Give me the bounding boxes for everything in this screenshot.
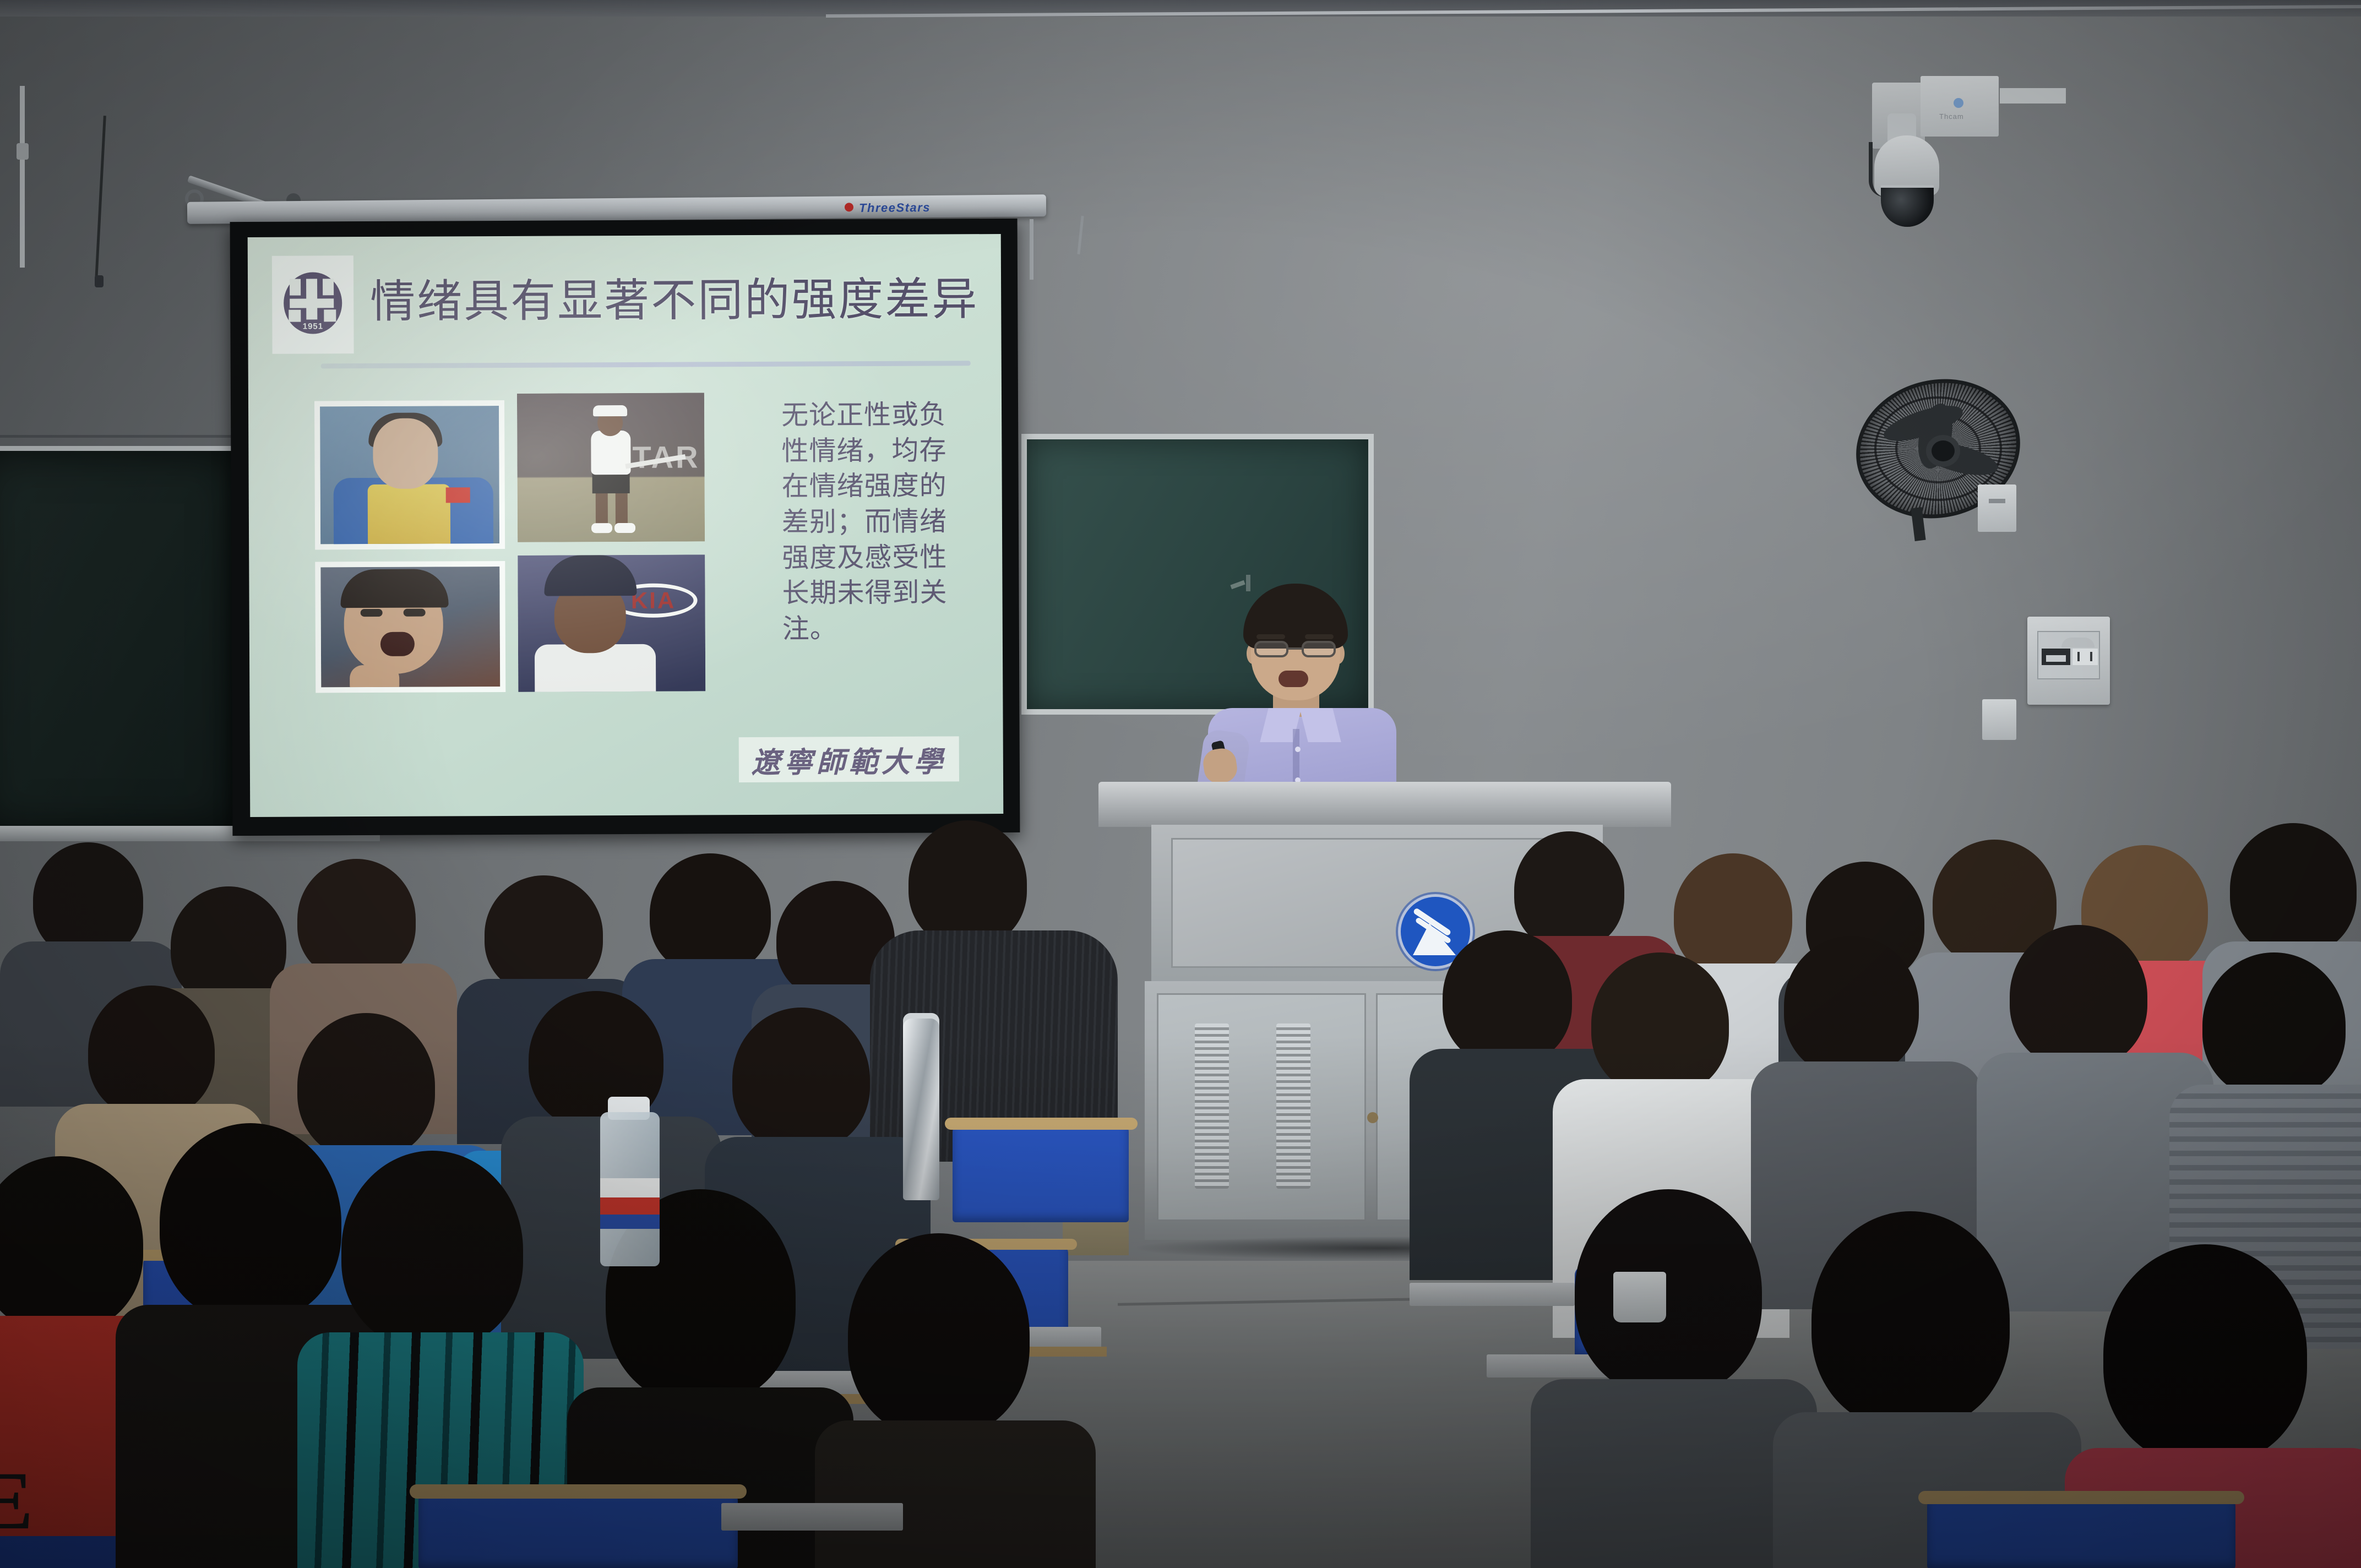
screen-brand-label: ThreeStars (859, 200, 931, 215)
conduit-clip (17, 143, 29, 160)
circuit-breaker-switch[interactable] (2042, 649, 2070, 665)
student-head (1591, 952, 1729, 1096)
student-head (33, 842, 143, 958)
slide-title: 情绪具有显著不同的强度差异 (370, 277, 978, 325)
screen-mount-bracket-icon (182, 173, 306, 201)
lecturer-eyebrow (1305, 634, 1334, 639)
slide-title-rule (321, 361, 971, 368)
classroom-chair[interactable] (418, 1492, 738, 1568)
camera-junction-box: Thcam (1921, 76, 1999, 137)
camera-dome-lens-icon (1881, 185, 1934, 227)
paper-cup[interactable] (1613, 1272, 1666, 1322)
wall-seam (0, 435, 259, 438)
lecturer-mouth (1279, 671, 1308, 687)
student-head (297, 1013, 435, 1159)
student-head (485, 875, 603, 994)
brand-dot-icon (845, 203, 853, 211)
student-head (297, 859, 416, 980)
student-desk (721, 1503, 903, 1531)
student-head (2010, 925, 2147, 1068)
camera-box-label: Thcam (1939, 112, 1964, 121)
student-head (341, 1151, 523, 1349)
projection-screen: 1951 情绪具有显著不同的强度差异 TAR (230, 219, 1020, 836)
wall-power-socket[interactable] (1982, 699, 2016, 740)
ptz-dome-security-camera: Thcam (1872, 83, 1977, 231)
university-logo: 1951 (272, 255, 354, 354)
screen-side-rail (1030, 219, 1033, 280)
student-head (909, 820, 1027, 947)
panel-outlet[interactable] (2072, 649, 2098, 665)
student-head (88, 986, 215, 1118)
student-head (1674, 853, 1792, 977)
slide-body-text: 无论正性或负性情绪，均存在情绪强度的差别；而情绪强度及感受性长期未得到关注。 (781, 397, 948, 647)
student-head (1443, 930, 1572, 1065)
student-head (1575, 1189, 1762, 1396)
steel-thermos[interactable] (903, 1019, 939, 1200)
student-head (171, 886, 286, 1005)
presentation-slide: 1951 情绪具有显著不同的强度差异 TAR (248, 234, 1004, 817)
classroom-chair[interactable] (1927, 1498, 2235, 1568)
panel-hood (2061, 638, 2095, 647)
student-head (1514, 831, 1624, 950)
slide-photo-tennis-standing: TAR (517, 393, 705, 542)
chair-frame (945, 1118, 1138, 1130)
wall-power-socket[interactable] (1978, 484, 2016, 532)
lecturer-shirt-button (1295, 747, 1301, 752)
student-desk (1410, 1283, 1575, 1306)
panel-inner-frame (2037, 631, 2100, 679)
fan-pull-cord-knob[interactable] (95, 275, 104, 287)
student-head (732, 1008, 870, 1151)
chair-frame (1918, 1491, 2244, 1504)
student-torso (815, 1420, 1096, 1568)
fan-hub (1926, 435, 1960, 467)
logo-year-label: 1951 (280, 322, 346, 331)
student-head (650, 853, 771, 974)
water-bottle-label (600, 1178, 660, 1229)
lecture-hall-scene: ThreeStars 1951 情绪具有显著不同的强度差异 (0, 0, 2361, 1568)
student-head (2103, 1244, 2307, 1464)
student-head (1784, 936, 1919, 1076)
slide-photo-tennis-sponsor-board: KIA (518, 554, 705, 692)
electrical-breaker-panel[interactable] (2027, 617, 2110, 705)
audience: BE (0, 771, 2361, 1568)
camera-conduit (2000, 88, 2066, 104)
student-head (160, 1123, 341, 1321)
panel-conduit-wire (20, 86, 25, 268)
student-head (848, 1233, 1030, 1437)
camera-status-led-icon (1954, 98, 1963, 108)
student-head (2230, 823, 2357, 955)
classroom-chair[interactable] (953, 1123, 1129, 1222)
jacket-text: BE (0, 1453, 33, 1548)
slide-photo-grid: TAR KIA (314, 399, 745, 693)
lecturer-eyebrow (1256, 634, 1285, 639)
student-head (1811, 1211, 2010, 1429)
student-head (2202, 952, 2346, 1098)
slide-photo-shouting-athlete (315, 561, 505, 693)
glasses-icon (1253, 641, 1338, 657)
chair-frame (410, 1484, 747, 1499)
slide-photo-table-tennis (314, 400, 505, 550)
